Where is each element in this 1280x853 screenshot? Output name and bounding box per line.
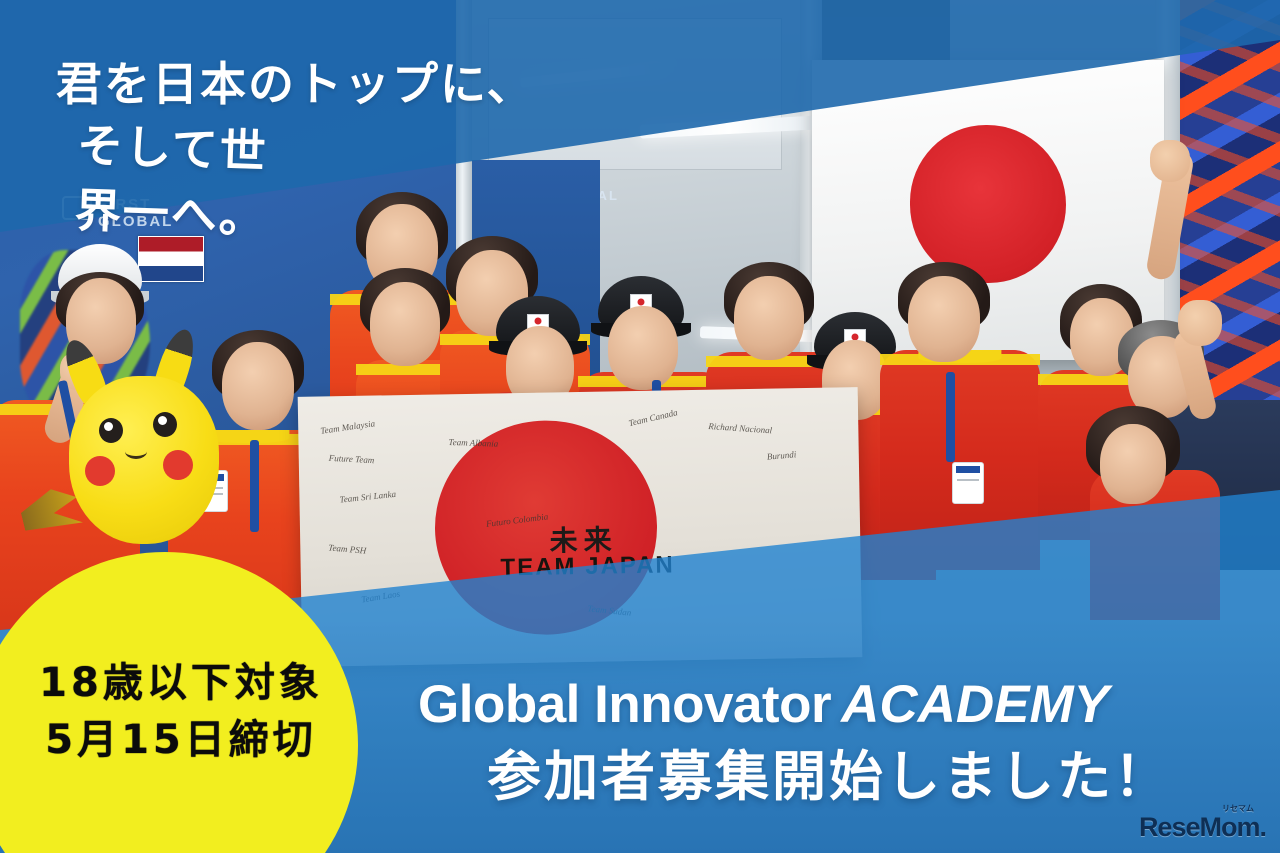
headline-line-1: 君を日本のトップに、 xyxy=(56,52,535,117)
face xyxy=(734,276,804,360)
program-title-accent: ACADEMY xyxy=(841,675,1109,734)
resemom-watermark: リセマムReseMom. xyxy=(1139,814,1266,841)
japan-flag-sun xyxy=(910,125,1066,283)
signature: Team PSH xyxy=(328,542,367,555)
face xyxy=(1100,424,1166,504)
waving-hand xyxy=(1178,300,1222,346)
program-title-main: Global Innovator xyxy=(418,675,831,734)
headline: 君を日本のトップに、 そして世界一へ。 xyxy=(56,52,535,129)
raised-hand xyxy=(1150,140,1190,182)
badge-header xyxy=(956,466,980,473)
face xyxy=(222,342,294,430)
face xyxy=(608,306,678,390)
watermark-dot: . xyxy=(1259,812,1266,842)
badge-line xyxy=(957,479,979,481)
program-subtitle-japanese: 参加者募集開始しました！ xyxy=(487,750,1171,804)
pikachu-eye-right xyxy=(153,412,177,437)
program-title-english: Global InnovatorACADEMY xyxy=(418,678,1109,731)
deadline-badge-text: 18歳以下対象 5月15日締切 xyxy=(6,655,356,769)
pikachu-cheek-left xyxy=(85,456,115,486)
signature: Team Canada xyxy=(628,407,679,428)
signature: Team Albania xyxy=(448,437,498,449)
watermark-name: ReseMom xyxy=(1139,812,1260,842)
lanyard xyxy=(250,440,259,532)
promo-banner: FIRST GLOBAL FIRST GLOBAL ALVADO xyxy=(0,0,1280,853)
lanyard xyxy=(946,372,955,462)
signature: Team Malaysia xyxy=(320,418,376,436)
face xyxy=(370,282,440,366)
badge-line-age: 18歳以下対象 xyxy=(6,655,356,712)
badge-line-deadline: 5月15日締切 xyxy=(6,712,356,769)
pikachu-balloon xyxy=(55,340,230,555)
signature: Future Team xyxy=(329,453,375,465)
pikachu-eye-left xyxy=(99,418,123,443)
guest-badge xyxy=(952,462,984,504)
signature: Richard Nacional xyxy=(708,421,772,435)
face xyxy=(908,276,980,362)
signature: Burundi xyxy=(766,449,796,462)
pikachu-mouth xyxy=(125,444,147,459)
signature: Team Sri Lanka xyxy=(339,489,396,505)
pikachu-cheek-right xyxy=(163,450,193,480)
watermark-kana: リセマム xyxy=(1222,805,1254,813)
flag-netherlands xyxy=(138,236,204,282)
